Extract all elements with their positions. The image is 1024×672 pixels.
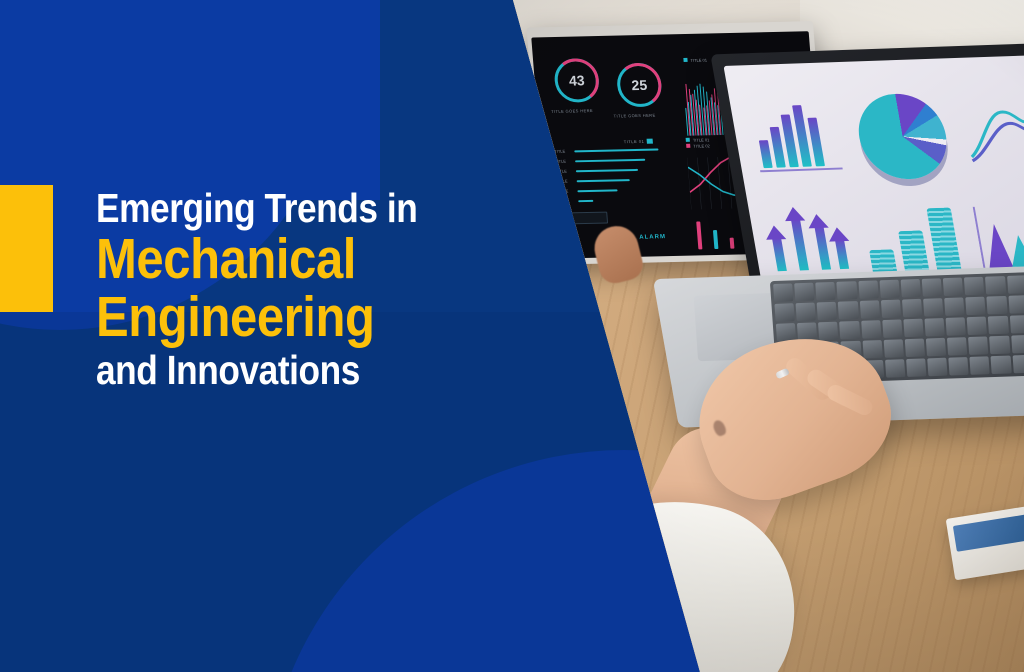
coin-stack [926,208,962,278]
keyboard-key [861,320,881,339]
keyboard-key [858,280,878,299]
keyboard-key [882,319,902,338]
keyboard-key [1008,295,1024,314]
screen-growth-arrows-icon [761,193,855,271]
keyboard-key [967,317,987,336]
headline-line-3: Engineering [96,290,466,346]
keyboard-key [885,359,905,378]
keyboard-key [987,296,1007,315]
growth-arrow [772,237,787,271]
keyboard-key [968,336,988,355]
keyboard-key [881,300,901,319]
growth-arrow [791,219,809,271]
hero-banner: Emerging Trends in Mechanical Engineerin… [0,0,1024,672]
keyboard-key [903,319,923,338]
headline-line-2: Mechanical [96,232,466,288]
keyboard-key [922,278,942,297]
keyboard-key [948,357,968,376]
screen-line-chart-icon [958,99,1024,167]
keyboard-key [1012,355,1024,374]
keyboard-key [879,280,899,299]
keyboard-key [838,301,858,320]
keyboard-key [1007,275,1024,294]
keyboard-key [862,340,882,359]
growth-arrow [835,239,849,269]
keyboard-key [837,281,857,300]
keyboard-key [927,358,947,377]
keyboard-key [773,283,793,302]
keyboard-key [796,303,816,322]
screen-bar-chart-icon [752,100,836,168]
laptop-screen [723,54,1024,287]
keyboard-key [991,356,1011,375]
keyboard-key [794,283,814,302]
keyboard-key [988,316,1008,335]
keyboard-key [926,338,946,357]
keyboard-key [1011,335,1024,354]
keyboard-key [900,279,920,298]
keyboard-key [859,300,879,319]
keyboard-key [840,321,860,340]
keyboard-key [905,339,925,358]
laptop-lid [710,42,1024,302]
accent-bar [0,185,53,312]
keyboard-key [818,322,838,341]
keyboard-key [985,276,1005,295]
keyboard-key [924,318,944,337]
keyboard-key [902,299,922,318]
screen-bar-chart-axis [760,167,843,172]
page-title: Emerging Trends in Mechanical Engineerin… [96,188,526,390]
background-shape-top-slab [0,0,380,200]
legend-label-1: TITLE 01 [690,57,707,62]
keyboard-key [816,282,836,301]
screen-mountain-chart-icon [973,204,1024,276]
keyboard-key [817,302,837,321]
small-card-on-desk [946,506,1024,581]
keyboard-key [923,298,943,317]
keyboard-key [966,297,986,316]
keyboard-key [944,297,964,316]
keyboard-key [906,358,926,377]
screen-pie-chart-icon [852,92,953,180]
keyboard-key [946,317,966,336]
headline-line-1: Emerging Trends in [96,188,466,228]
keyboard-key [947,337,967,356]
keyboard-key [990,336,1010,355]
gauge-value-1: 43 [556,61,597,100]
keyboard-key [883,339,903,358]
keyboard-key [964,277,984,296]
keyboard-key [970,356,990,375]
headline-line-4: and Innovations [96,350,466,390]
keyboard-key [943,278,963,297]
gauge-label-1: TITLE GOES HERE [551,108,593,114]
keyboard-key [774,303,794,322]
keyboard-key [1009,315,1024,334]
